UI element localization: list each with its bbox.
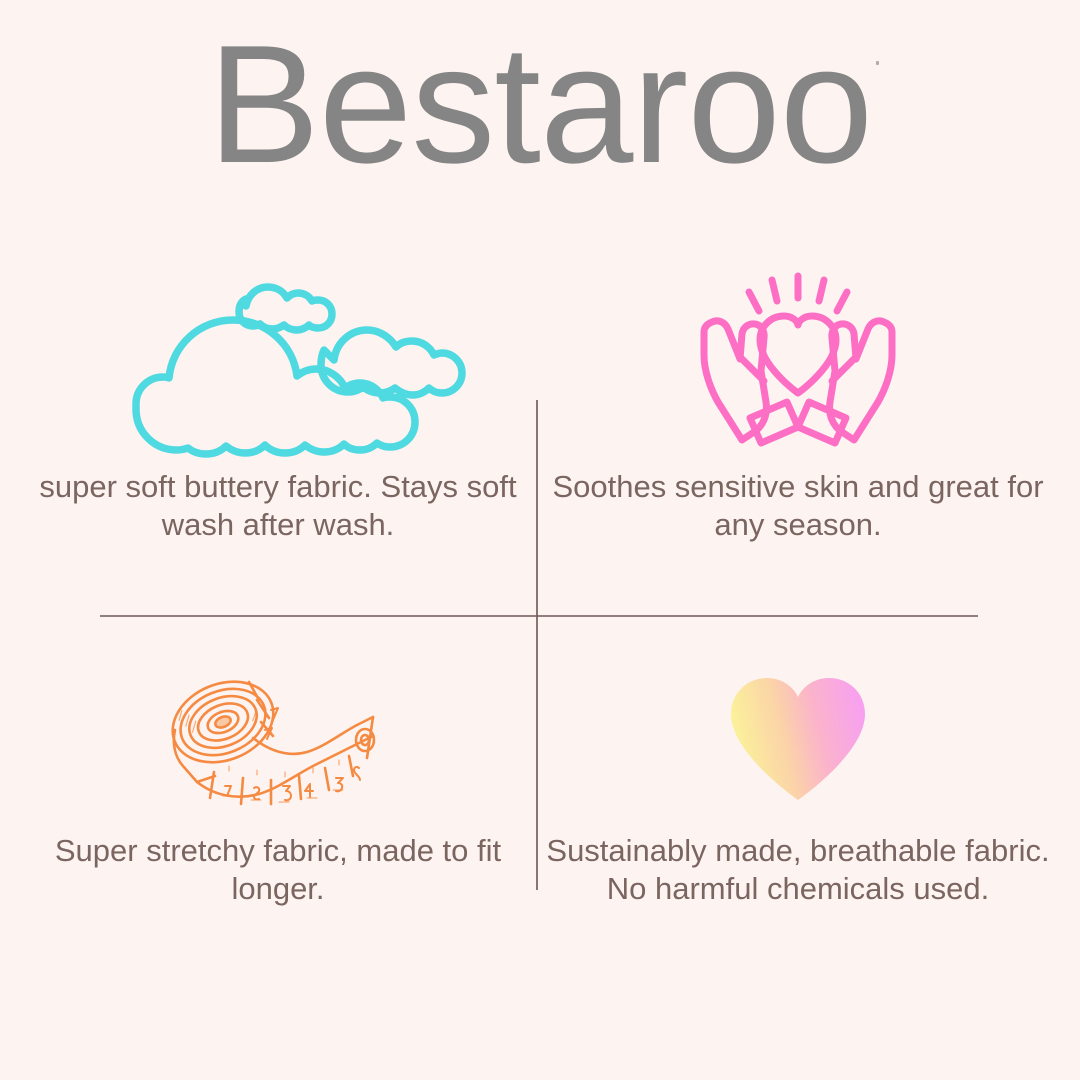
feature-text-soft-fabric: super soft buttery fabric. Stays soft wa… bbox=[20, 468, 536, 544]
gradient-heart-icon bbox=[540, 630, 1056, 810]
feature-cell-sustainable-fabric: Sustainably made, breathable fabric. No … bbox=[540, 630, 1056, 970]
feature-cell-soft-fabric: super soft buttery fabric. Stays soft wa… bbox=[20, 250, 536, 580]
promo-graphic: Bestaroo super soft buttery fabric. Stay… bbox=[0, 0, 1080, 1080]
feature-cell-stretchy-fabric: Super stretchy fabric, made to fit longe… bbox=[20, 630, 536, 970]
horizontal-divider bbox=[100, 615, 978, 617]
feature-cell-sensitive-skin: Soothes sensitive skin and great for any… bbox=[540, 250, 1056, 580]
feature-text-stretchy-fabric: Super stretchy fabric, made to fit longe… bbox=[20, 832, 536, 908]
measuring-tape-icon bbox=[20, 630, 536, 810]
feature-text-sustainable-fabric: Sustainably made, breathable fabric. No … bbox=[540, 832, 1056, 908]
feature-text-sensitive-skin: Soothes sensitive skin and great for any… bbox=[540, 468, 1056, 544]
hands-holding-heart-icon bbox=[540, 250, 1056, 450]
clouds-icon bbox=[20, 250, 536, 450]
page-title: Bestaroo bbox=[0, 16, 1080, 192]
logo-speck bbox=[876, 61, 879, 65]
vertical-divider bbox=[536, 400, 538, 890]
